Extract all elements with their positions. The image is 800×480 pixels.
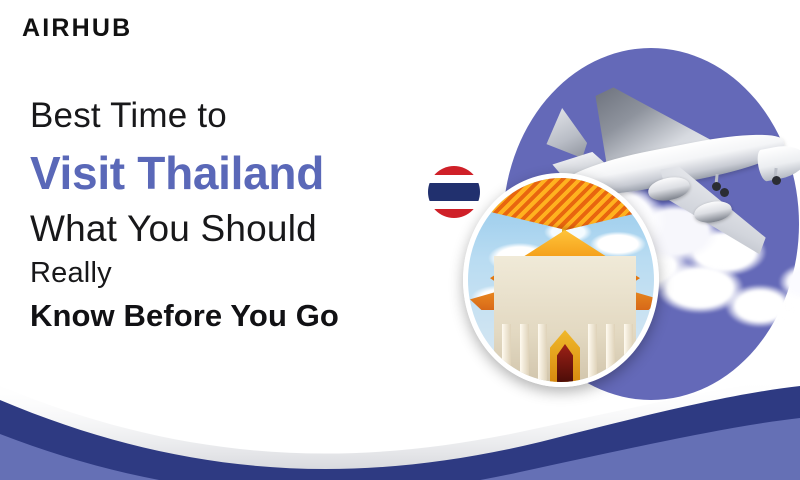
cloud-icon-lower (650, 240, 800, 360)
thai-temple-photo (463, 173, 659, 387)
headline-line-1: Best Time to (30, 98, 470, 133)
promo-banner: AIRHUB (0, 0, 800, 480)
headline-line-3: What You Should (30, 210, 470, 247)
airplane-tail-fin (537, 106, 588, 163)
brand-logo[interactable]: AIRHUB (22, 14, 132, 43)
headline-line-2: Visit Thailand (30, 150, 470, 196)
headline-block: Best Time to Visit Thailand What You Sho… (30, 98, 470, 331)
headline-line-4: Really (30, 259, 470, 288)
airplane-landing-gear-2 (720, 188, 729, 197)
headline-line-5: Know Before You Go (30, 300, 470, 331)
bottom-wave-decoration (0, 360, 800, 480)
airplane-landing-gear-3 (772, 176, 781, 185)
